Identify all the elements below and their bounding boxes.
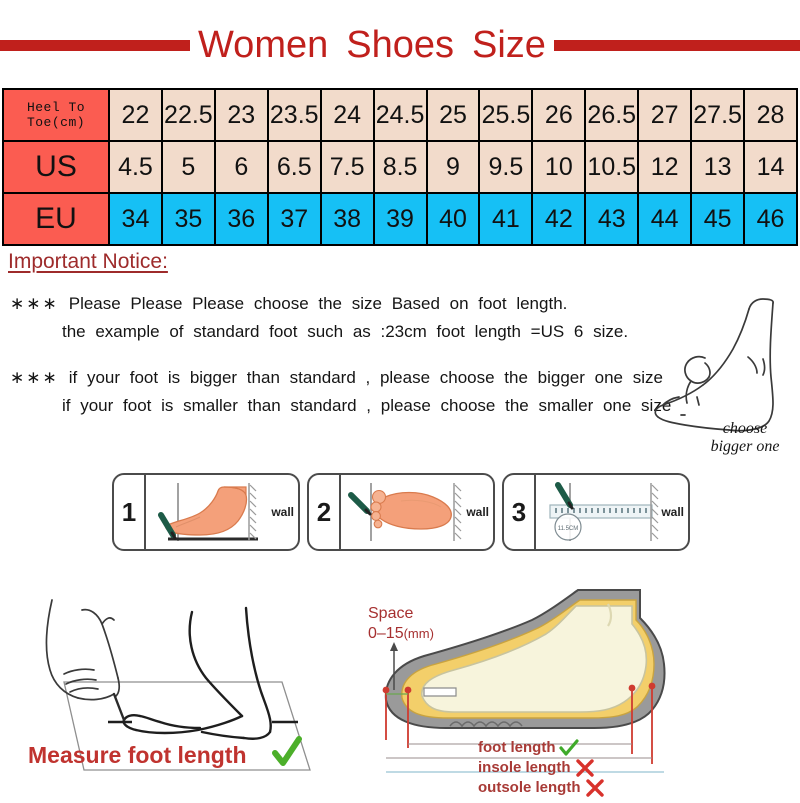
cell-us-9: 10.5 <box>585 141 638 193</box>
step-number-1: 1 <box>114 475 146 549</box>
cell-cm-10: 27 <box>638 89 691 141</box>
annotation-foot-length: foot length <box>478 738 605 758</box>
cell-cm-9: 26.5 <box>585 89 638 141</box>
page-title-row: WomenShoesSize <box>0 20 800 70</box>
foot-length-check-icon <box>559 739 579 757</box>
cell-us-8: 10 <box>532 141 585 193</box>
outsole-length-cross-icon <box>585 779 605 797</box>
cell-eu-6: 40 <box>427 193 480 245</box>
cell-cm-3: 23.5 <box>268 89 321 141</box>
foot-sketch-caption: choose bigger one <box>690 420 800 456</box>
notice-text-2: the example of standard foot such as :23… <box>62 322 628 341</box>
space-unit: (mm) <box>404 626 434 641</box>
notice-line-3: ∗∗∗if your foot is bigger than standard … <box>10 364 670 392</box>
cell-cm-0: 22 <box>109 89 162 141</box>
notice-text-1: Please Please Please choose the size Bas… <box>69 294 568 313</box>
cell-cm-4: 24 <box>321 89 374 141</box>
cell-us-0: 4.5 <box>109 141 162 193</box>
notice-spacer <box>10 346 670 364</box>
row-label-heel-to-toe: Heel To Toe(cm) <box>3 89 109 141</box>
notice-line-1: ∗∗∗Please Please Please choose the size … <box>10 290 670 318</box>
step-illustration-1: wall <box>146 475 298 549</box>
annotation-foot-length-text: foot length <box>478 738 555 758</box>
notice-text-3: if your foot is bigger than standard , p… <box>69 368 663 387</box>
cell-cm-1: 22.5 <box>162 89 215 141</box>
cell-cm-6: 25 <box>427 89 480 141</box>
cell-eu-1: 35 <box>162 193 215 245</box>
cell-eu-12: 46 <box>744 193 797 245</box>
cell-eu-3: 37 <box>268 193 321 245</box>
cell-us-6: 9 <box>427 141 480 193</box>
cell-eu-5: 39 <box>374 193 427 245</box>
cell-us-11: 13 <box>691 141 744 193</box>
table-row-us: US 4.5 5 6 6.5 7.5 8.5 9 9.5 10 10.5 12 … <box>3 141 797 193</box>
size-conversion-table: Heel To Toe(cm) 22 22.5 23 23.5 24 24.5 … <box>2 88 798 246</box>
step-illustration-2: wall <box>341 475 493 549</box>
ruler-badge-text: 11.5CM <box>558 526 579 532</box>
caption-line-2: bigger one <box>690 438 800 456</box>
notice-line-4: if your foot is smaller than standard , … <box>10 392 670 420</box>
cell-us-1: 5 <box>162 141 215 193</box>
measure-foot-caption: Measure foot length <box>28 742 247 769</box>
annotation-insole-length-text: insole length <box>478 758 571 778</box>
page-title: WomenShoesSize <box>190 26 554 64</box>
cell-eu-4: 38 <box>321 193 374 245</box>
cell-eu-11: 45 <box>691 193 744 245</box>
title-word-size: Size <box>472 24 546 66</box>
step-card-1: 1 <box>112 473 300 551</box>
important-notice-heading: Important Notice: <box>8 250 168 274</box>
length-annotations: foot length insole length outsole length <box>478 738 605 798</box>
step-number-3: 3 <box>504 475 536 549</box>
annotation-insole-length: insole length <box>478 758 605 778</box>
wall-label-3: wall <box>661 505 684 519</box>
row-label-us: US <box>3 141 109 193</box>
cell-us-4: 7.5 <box>321 141 374 193</box>
space-label-text: Space <box>368 604 434 624</box>
notice-text-4: if your foot is smaller than standard , … <box>62 396 671 415</box>
title-word-shoes: Shoes <box>346 24 454 66</box>
cell-us-7: 9.5 <box>479 141 532 193</box>
title-word-women: Women <box>198 24 328 66</box>
cell-us-3: 6.5 <box>268 141 321 193</box>
cell-cm-5: 24.5 <box>374 89 427 141</box>
notice-bullet-1: ∗∗∗ <box>10 294 59 313</box>
title-bar-left <box>0 40 190 51</box>
caption-line-1: choose <box>690 420 800 438</box>
cell-eu-2: 36 <box>215 193 268 245</box>
table-row-heel-to-toe: Heel To Toe(cm) 22 22.5 23 23.5 24 24.5 … <box>3 89 797 141</box>
annotation-outsole-length: outsole length <box>478 778 605 798</box>
cell-cm-8: 26 <box>532 89 585 141</box>
space-annotation: Space 0–15(mm) <box>368 604 434 644</box>
cell-cm-11: 27.5 <box>691 89 744 141</box>
cell-us-2: 6 <box>215 141 268 193</box>
row-label-eu: EU <box>3 193 109 245</box>
cell-cm-12: 28 <box>744 89 797 141</box>
cell-cm-7: 25.5 <box>479 89 532 141</box>
size-chart-page: WomenShoesSize Heel To Toe(cm) 22 22.5 2… <box>0 0 800 800</box>
cell-eu-7: 41 <box>479 193 532 245</box>
step-card-3: 3 <box>502 473 690 551</box>
space-value-row: 0–15(mm) <box>368 624 434 644</box>
cell-eu-8: 42 <box>532 193 585 245</box>
step-number-2: 2 <box>309 475 341 549</box>
cell-eu-0: 34 <box>109 193 162 245</box>
table-row-eu: EU 34 35 36 37 38 39 40 41 42 43 44 45 4… <box>3 193 797 245</box>
size-table-body: Heel To Toe(cm) 22 22.5 23 23.5 24 24.5 … <box>3 89 797 245</box>
notice-bullet-2: ∗∗∗ <box>10 368 59 387</box>
cell-us-12: 14 <box>744 141 797 193</box>
step-card-2: 2 <box>307 473 495 551</box>
cell-us-5: 8.5 <box>374 141 427 193</box>
measure-check-icon <box>272 736 302 770</box>
cell-eu-10: 44 <box>638 193 691 245</box>
annotation-outsole-length-text: outsole length <box>478 778 581 798</box>
step-illustration-3: 11.5CM <box>536 475 688 549</box>
wall-label-1: wall <box>271 505 294 519</box>
cell-us-10: 12 <box>638 141 691 193</box>
space-value: 0–15 <box>368 625 404 642</box>
insole-length-cross-icon <box>575 759 595 777</box>
cell-cm-2: 23 <box>215 89 268 141</box>
wall-label-2: wall <box>466 505 489 519</box>
notice-line-2: the example of standard foot such as :23… <box>10 318 670 346</box>
cell-eu-9: 43 <box>585 193 638 245</box>
title-bar-right <box>554 40 800 51</box>
measurement-steps: 1 <box>112 473 690 551</box>
important-notice-body: ∗∗∗Please Please Please choose the size … <box>10 290 670 420</box>
